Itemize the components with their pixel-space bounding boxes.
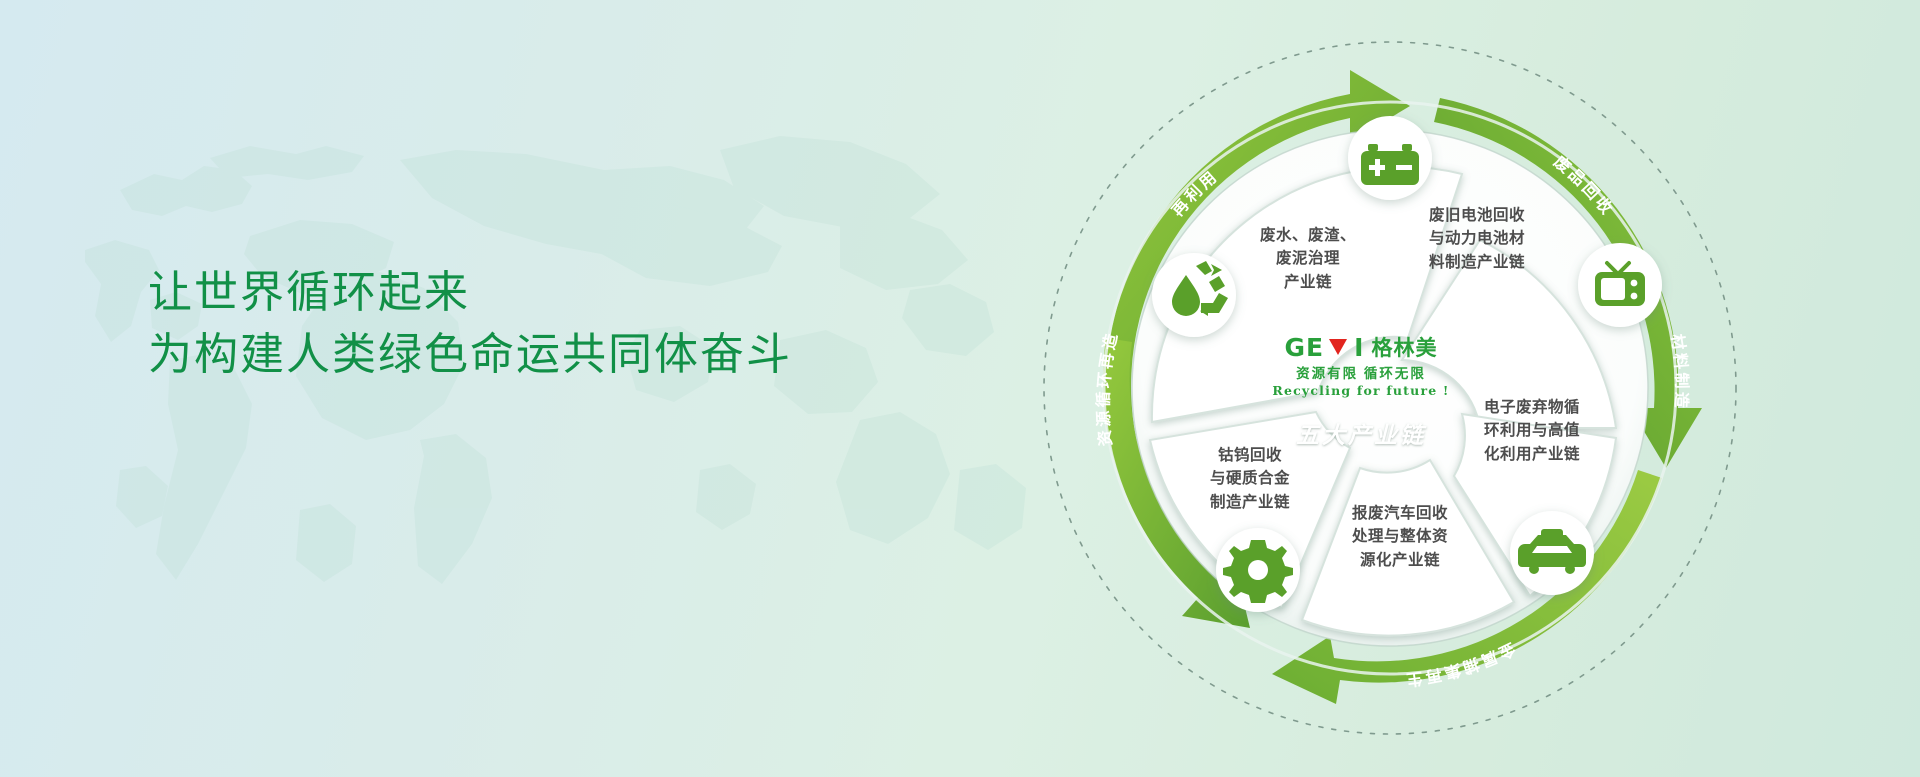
- segment-label-water-line2: 废泥治理: [1218, 247, 1398, 270]
- gem-logo-slogan-en: Recycling for future !: [1246, 383, 1476, 398]
- segment-label-water: 废水、废渣、 废泥治理 产业链: [1218, 224, 1398, 294]
- segment-label-cobalt-line3: 制造产业链: [1160, 491, 1340, 514]
- icon-bubble-tv[interactable]: [1578, 243, 1662, 327]
- gem-logo-latin: GE: [1285, 335, 1325, 360]
- headline-line-1: 让世界循环起来: [148, 262, 792, 324]
- headline-line-2: 为构建人类绿色命运共同体奋斗: [148, 324, 792, 386]
- segment-label-water-line3: 产业链: [1218, 271, 1398, 294]
- icon-bubble-car[interactable]: [1510, 511, 1594, 595]
- icon-bubble-gear[interactable]: [1216, 528, 1300, 612]
- segment-label-battery: 废旧电池回收 与动力电池材 料制造产业链: [1382, 204, 1572, 274]
- segment-label-vehicle-line3: 源化产业链: [1310, 549, 1490, 572]
- segment-label-water-line1: 废水、废渣、: [1218, 224, 1398, 247]
- gear-icon: [1223, 540, 1293, 603]
- segment-label-battery-line1: 废旧电池回收: [1382, 204, 1572, 227]
- gem-logo-slogan-cn: 资源有限 循环无限: [1246, 362, 1476, 382]
- banner-root: 让世界循环起来 为构建人类绿色命运共同体奋斗: [0, 0, 1920, 777]
- segment-label-cobalt-line2: 与硬质合金: [1160, 467, 1340, 490]
- icon-bubble-battery[interactable]: [1348, 116, 1432, 200]
- gem-logo-latin-tail: I: [1354, 335, 1364, 360]
- segment-label-battery-line3: 料制造产业链: [1382, 251, 1572, 274]
- page-title: 让世界循环起来 为构建人类绿色命运共同体奋斗: [148, 262, 792, 387]
- diagram-center-title: 五大产业链: [1246, 416, 1476, 450]
- segment-label-vehicle-line2: 处理与整体资: [1310, 525, 1490, 548]
- gem-logo: GE I 格林美 资源有限 循环无限 Recycling for future …: [1246, 334, 1476, 398]
- gem-logo-triangle-icon: [1329, 339, 1347, 355]
- five-industry-chain-diagram: 再利用 废品回收 材料制造 金属捕集再生 资源循环再造: [1010, 8, 1770, 768]
- segment-label-battery-line2: 与动力电池材: [1382, 227, 1572, 250]
- segment-label-cobalt: 钴钨回收 与硬质合金 制造产业链: [1160, 444, 1340, 514]
- gem-logo-chinese: 格林美: [1371, 332, 1437, 362]
